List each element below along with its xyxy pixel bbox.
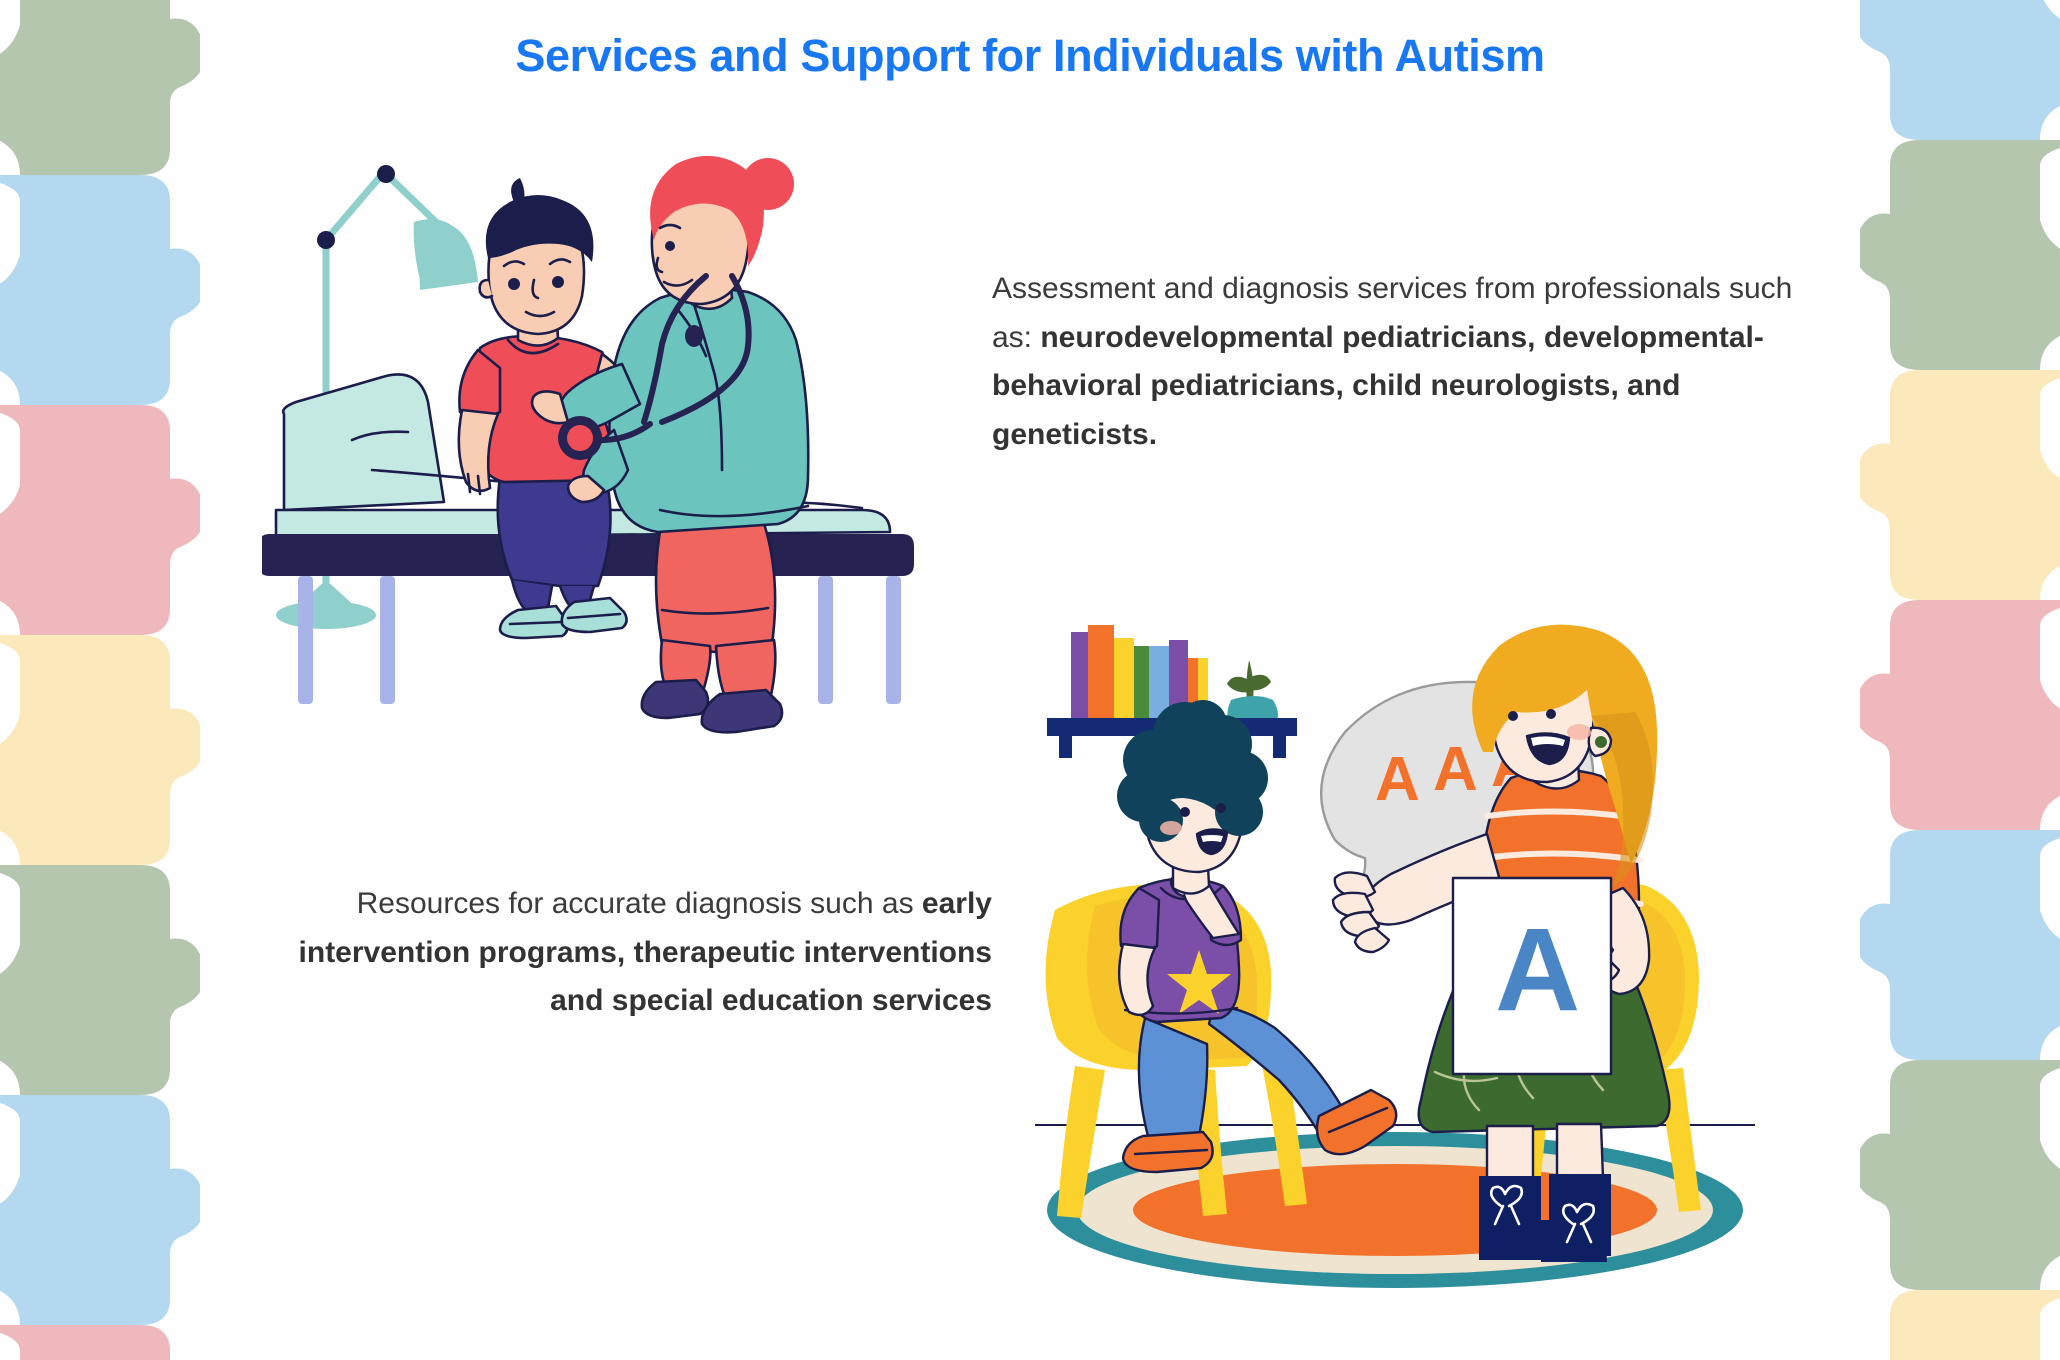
puzzle-piece-pink-1 xyxy=(0,405,200,635)
puzzle-piece-green-2 xyxy=(0,865,200,1095)
letter-card: A xyxy=(1453,878,1611,1074)
card-letter: A xyxy=(1495,904,1580,1036)
speech-letter-1: A xyxy=(1375,745,1420,814)
puzzle-piece-yellow-r2 xyxy=(1860,1290,2060,1360)
resources-lead: Resources for accurate diagnosis such as xyxy=(357,887,922,920)
puzzle-piece-green-1 xyxy=(0,0,200,175)
puzzle-piece-pink-r1 xyxy=(1860,600,2060,830)
puzzle-border-right xyxy=(1860,0,2060,1360)
puzzle-piece-green-r1 xyxy=(1860,140,2060,370)
puzzle-piece-pink-2 xyxy=(0,1325,200,1360)
puzzle-piece-green-r2 xyxy=(1860,1060,2060,1290)
speech-therapy-illustration: A A A xyxy=(1035,620,1755,1300)
puzzle-piece-yellow-1 xyxy=(0,635,200,865)
puzzle-piece-blue-r2 xyxy=(1860,830,2060,1060)
doctor-examining-child-illustration xyxy=(262,140,942,740)
puzzle-piece-yellow-r1 xyxy=(1860,370,2060,600)
assessment-emphasis: neurodevelopmental pediatricians, develo… xyxy=(992,321,1764,451)
speech-letter-2: A xyxy=(1433,735,1478,804)
puzzle-border-left xyxy=(0,0,200,1360)
puzzle-piece-blue-1 xyxy=(0,175,200,405)
resources-paragraph: Resources for accurate diagnosis such as… xyxy=(250,880,992,1026)
assessment-paragraph: Assessment and diagnosis services from p… xyxy=(992,265,1822,459)
puzzle-piece-blue-2 xyxy=(0,1095,200,1325)
infographic-page: Services and Support for Individuals wit… xyxy=(0,0,2060,1360)
page-title: Services and Support for Individuals wit… xyxy=(0,30,2060,82)
